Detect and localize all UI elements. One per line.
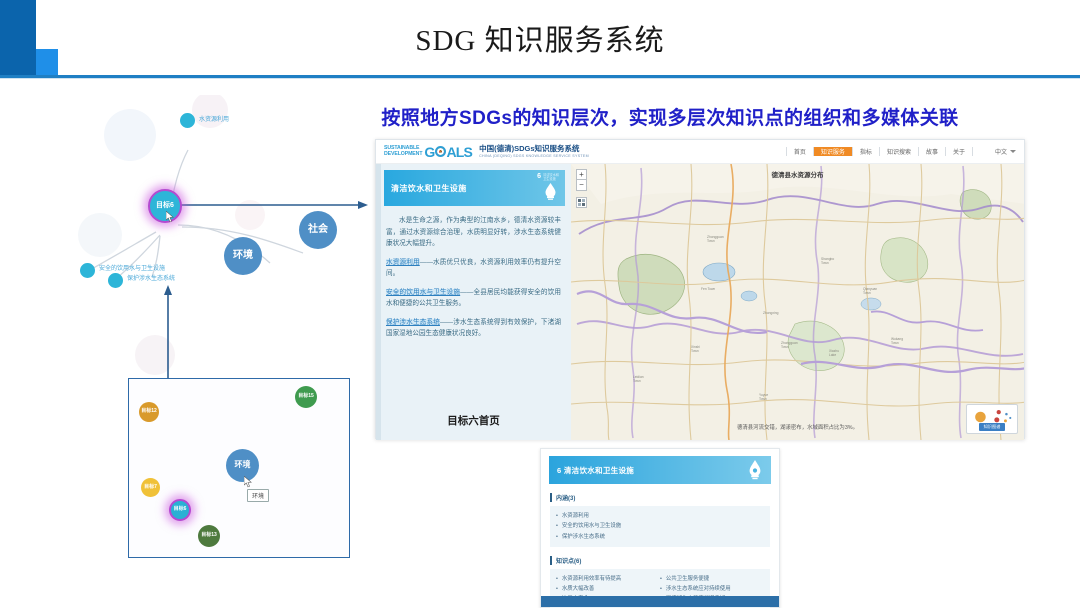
logo-line-development: DEVELOPMENT xyxy=(384,152,422,158)
graph-node-water-use-label: 水资源利用 xyxy=(199,116,229,125)
map-zoom-in-button[interactable]: + xyxy=(576,169,587,180)
inner-node-goal7[interactable]: 目标7 xyxy=(141,478,160,497)
goal-link-protect-eco[interactable]: 保护涉水生态系统 xyxy=(386,319,440,326)
nav-item-knowledge-search[interactable]: 知识搜索 xyxy=(880,147,919,156)
graph-node-protect-eco-label: 保护涉水生态系统 xyxy=(127,275,175,284)
graph-node-safe-water[interactable] xyxy=(80,263,95,278)
web-app-screenshot: SUSTAINABLE DEVELOPMENT GALS 中国(德清)SDGs知… xyxy=(375,139,1025,439)
graph-node-goal6[interactable]: 目标6 xyxy=(148,189,182,223)
svg-text:Town: Town xyxy=(821,261,829,265)
card-section-title-connotation: 内涵(3) xyxy=(550,493,779,502)
map-zoom-controls[interactable]: + − xyxy=(576,169,587,191)
graph-inner-panel: 目标12 目标15 目标7 目标6 目标13 环境 环境 xyxy=(128,378,350,558)
nav-item-knowledge-service[interactable]: 知识服务 xyxy=(814,147,853,156)
goal-content-panel: 清洁饮水和卫生设施 6 清洁饮水和 卫生设施 水是生命之源，作为典 xyxy=(376,164,571,440)
goal-header-banner: 清洁饮水和卫生设施 6 清洁饮水和 卫生设施 xyxy=(384,170,565,206)
inner-mouse-cursor-icon xyxy=(244,476,253,488)
map-zoom-out-button[interactable]: − xyxy=(576,180,587,191)
map-canvas: ZhongguanTown Fen Town Zhongxing Shangbo… xyxy=(571,164,1024,440)
inner-node-goal12-label: 目标12 xyxy=(141,409,157,414)
site-navbar: SUSTAINABLE DEVELOPMENT GALS 中国(德清)SDGs知… xyxy=(376,140,1024,164)
page-title: SDG 知识服务系统 xyxy=(0,17,1080,59)
goal-link-safe-water[interactable]: 安全的饮用水与卫生设施 xyxy=(386,289,460,296)
card-header-title: 6 清洁饮水和卫生设施 xyxy=(557,465,634,476)
nav-item-stories[interactable]: 故事 xyxy=(919,147,946,156)
inner-node-goal13-label: 目标13 xyxy=(201,533,217,538)
inner-node-environment-label: 环境 xyxy=(235,461,251,469)
connotation-item-2[interactable]: 安全的饮用水与卫生设施 xyxy=(556,521,764,531)
knowledge-point-1[interactable]: 水资源利用效率有待提高 xyxy=(556,574,660,584)
card-section-title-knowledge-points: 知识点(6) xyxy=(550,556,779,565)
logo-goals-g: G xyxy=(424,144,434,160)
knowledge-graph-button[interactable]: 知识图谱 xyxy=(966,404,1018,434)
goal6-home-label[interactable]: 目标六首页 xyxy=(376,413,571,428)
card-water-drop-icon xyxy=(748,459,762,480)
svg-text:Fen Town: Fen Town xyxy=(701,287,715,291)
layers-icon xyxy=(578,199,585,206)
logo-goals-tail: ALS xyxy=(446,144,472,160)
water-drop-icon xyxy=(544,182,557,200)
svg-text:Town: Town xyxy=(759,397,767,401)
map-title: 德清县水资源分布 xyxy=(571,169,1024,179)
svg-text:Town: Town xyxy=(633,379,641,383)
nav-item-about[interactable]: 关于 xyxy=(946,147,973,156)
site-name-cn: 中国(德清)SDGs知识服务系统 CHINA (DEQING) SDGS KNO… xyxy=(479,145,589,157)
svg-text:Town: Town xyxy=(781,345,789,349)
inner-node-environment[interactable]: 环境 xyxy=(226,449,259,482)
goal-badge-sub: 清洁饮水和 卫生设施 xyxy=(543,173,559,181)
card-header-banner: 6 清洁饮水和卫生设施 xyxy=(549,456,771,484)
svg-text:Zhongxing: Zhongxing xyxy=(763,311,779,315)
goal-header-title: 清洁饮水和卫生设施 xyxy=(391,183,467,194)
nav-item-indicators[interactable]: 指标 xyxy=(853,147,880,156)
sdg-wheel-icon xyxy=(435,146,446,157)
panel-side-strip xyxy=(376,164,381,440)
inner-node-goal13[interactable]: 目标13 xyxy=(198,525,220,547)
inner-node-goal12[interactable]: 目标12 xyxy=(139,402,159,422)
language-selector-label: 中文 xyxy=(995,147,1007,156)
mouse-cursor-icon xyxy=(166,211,175,223)
graph-node-environment[interactable]: 环境 xyxy=(224,237,262,275)
svg-text:Town: Town xyxy=(891,341,899,345)
graph-node-water-use[interactable] xyxy=(180,113,195,128)
logo-goals-word: GALS xyxy=(424,144,472,160)
map-panel[interactable]: ZhongguanTown Fen Town Zhongxing Shangbo… xyxy=(571,164,1024,440)
slide-banner-subtitle: 按照地方SDGs的知识层次，实现多层次知识点的组织和多媒体关联 xyxy=(300,103,1040,130)
svg-text:Lake: Lake xyxy=(829,353,836,357)
slide-root: SDG 知识服务系统 按照地方SDGs的知识层次，实现多层次知识点的组织和多媒体… xyxy=(0,0,1080,608)
svg-text:Town: Town xyxy=(707,239,715,243)
graph-node-environment-label: 环境 xyxy=(233,251,253,262)
inner-node-goal7-label: 目标7 xyxy=(144,485,157,490)
graph-node-safe-water-label: 安全的饮用水与卫生设施 xyxy=(99,265,165,274)
graph-node-society-label: 社会 xyxy=(308,225,328,236)
graph-node-protect-eco[interactable] xyxy=(108,273,123,288)
svg-text:Town: Town xyxy=(691,349,699,353)
graph-node-society[interactable]: 社会 xyxy=(299,211,337,249)
map-caption: 德清县河流交错，湖漾密布，水域面积占比为3%。 xyxy=(571,423,1024,431)
inner-node-goal6[interactable]: 目标6 xyxy=(169,499,191,521)
language-selector[interactable]: 中文 xyxy=(995,147,1016,156)
inner-node-goal15[interactable]: 目标15 xyxy=(295,386,317,408)
card-footer-bar xyxy=(541,596,779,607)
goal-link-block-3: 保护涉水生态系统——涉水生态系统得到有效保护，下渚湖国家湿地公园生态健康状况良好… xyxy=(386,317,561,340)
graph-node-goal6-label: 目标6 xyxy=(156,202,174,209)
sdg-logo[interactable]: SUSTAINABLE DEVELOPMENT GALS 中国(德清)SDGs知… xyxy=(384,144,589,160)
site-name-cn-main: 中国(德清)SDGs知识服务系统 xyxy=(479,145,589,153)
goal-link-water-use[interactable]: 水资源利用 xyxy=(386,259,420,266)
connotation-item-3[interactable]: 保护涉水生态系统 xyxy=(556,532,764,542)
goal-badge-sub-line2: 卫生设施 xyxy=(543,177,556,181)
goal-paragraph: 水是生命之源，作为典型的江南水乡，德清水资源较丰富，通过水资源综合治理，水质明显… xyxy=(386,215,561,250)
knowledge-point-2[interactable]: 水质大幅改善 xyxy=(556,584,660,594)
inner-node-goal6-label: 目标6 xyxy=(174,507,187,512)
site-name-cn-sub: CHINA (DEQING) SDGS KNOWLEDGE SERVICE SY… xyxy=(479,154,589,158)
inner-node-tooltip: 环境 xyxy=(247,489,269,502)
knowledge-graph-icon xyxy=(967,408,1017,425)
nav-item-home[interactable]: 首页 xyxy=(786,147,814,156)
goal-header-badge: 6 清洁饮水和 卫生设施 xyxy=(537,173,559,181)
header-divider-rule-thin xyxy=(0,78,1080,79)
site-nav-menu: 首页 知识服务 指标 知识搜索 故事 关于 xyxy=(786,147,973,156)
svg-text:Town: Town xyxy=(863,291,871,295)
goal-number: 6 xyxy=(537,173,541,180)
knowledge-point-4[interactable]: 公共卫生服务便捷 xyxy=(660,574,764,584)
goal-link-block-1: 水资源利用——水质优只优良，水资源利用效率仍有提升空间。 xyxy=(386,257,561,280)
connotation-item-1[interactable]: 水资源利用 xyxy=(556,511,764,521)
inner-node-goal15-label: 目标15 xyxy=(298,394,314,399)
goal-link-block-2: 安全的饮用水与卫生设施——全县居民均能获得安全的饮用水和便捷的公共卫生服务。 xyxy=(386,287,561,310)
app-body: 清洁饮水和卫生设施 6 清洁饮水和 卫生设施 水是生命之源，作为典 xyxy=(376,164,1024,440)
knowledge-point-5[interactable]: 涉水生态系统应对持续使用 xyxy=(660,584,764,594)
card-section-connotation: 水资源利用 安全的饮用水与卫生设施 保护涉水生态系统 xyxy=(550,506,770,547)
goal-detail-card: 6 清洁饮水和卫生设施 内涵(3) 水资源利用 安全的饮用水与卫生设施 保护涉水… xyxy=(540,448,780,608)
map-layers-button[interactable] xyxy=(576,197,587,208)
chevron-down-icon xyxy=(1010,150,1016,153)
